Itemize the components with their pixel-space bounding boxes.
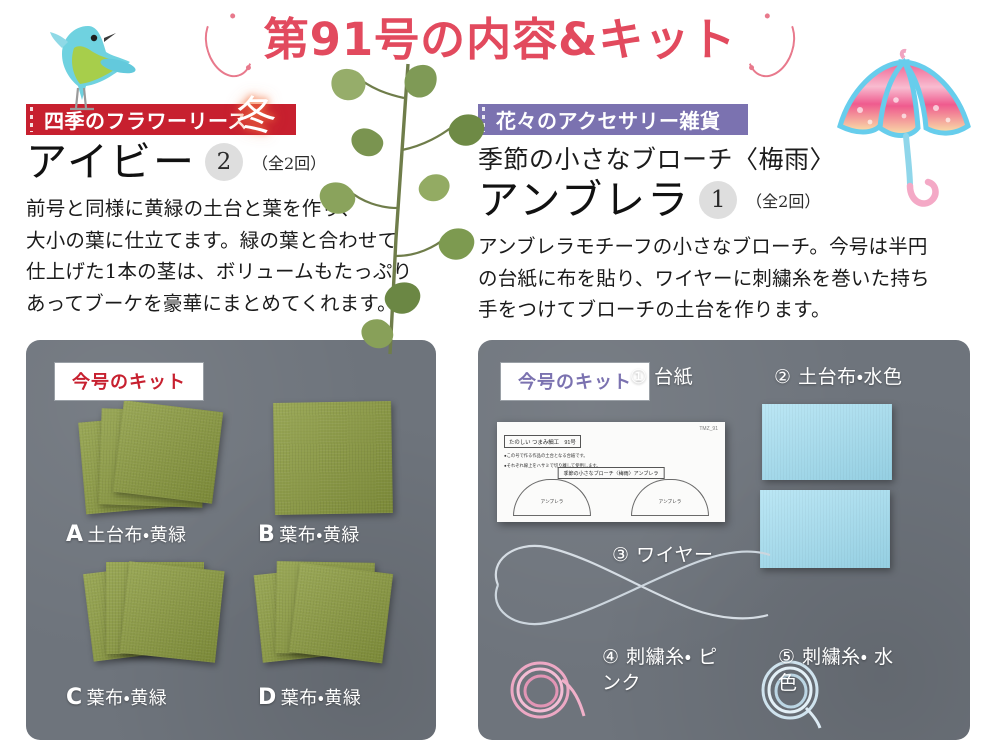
banner-right-label: 花々のアクセサリー雑貨 bbox=[496, 105, 721, 134]
kit-label-5: ⑤ 刺繍糸・ 水色 bbox=[778, 645, 908, 696]
left-kit-panel: 今号のキット A土台布・黄緑 B葉布・黄緑 C葉布・黄緑 D葉布・黄緑 bbox=[26, 340, 436, 740]
fabric-swatch-b bbox=[273, 401, 393, 515]
kit-text-a: 土台布・黄緑 bbox=[88, 525, 187, 546]
magazine-page: 第91号の内容&キット bbox=[0, 0, 1000, 756]
fabric-swatch-blue-bottom bbox=[760, 490, 890, 568]
page-title: 第91号の内容&キット bbox=[264, 8, 737, 72]
umbrella-brooch-illustration bbox=[818, 48, 994, 234]
pattern-shape-label: アンブレラ bbox=[541, 499, 564, 505]
kit-text-5: 刺繍糸・ 水色 bbox=[778, 646, 894, 694]
season-kanji-winter: 冬 bbox=[236, 96, 276, 136]
left-issue-badge: 2 bbox=[205, 143, 243, 181]
pattern-shape-label: アンブレラ bbox=[659, 499, 682, 505]
kit-key-3: ③ bbox=[612, 544, 630, 566]
right-body-line: アンブレラモチーフの小さなブローチ。今号は半円 bbox=[478, 231, 968, 263]
left-craft-title: アイビー bbox=[26, 140, 196, 184]
right-body-line: 手をつけてブローチの土台を作ります。 bbox=[478, 294, 968, 326]
pattern-sheet-title: たのしい つまみ細工 91号 bbox=[504, 435, 581, 448]
kit-text-1: 台紙 bbox=[654, 366, 693, 388]
kit-text-3: ワイヤー bbox=[636, 544, 713, 566]
kit-label-4: ④ 刺繍糸・ ピンク bbox=[602, 645, 722, 696]
kit-key-1: ① bbox=[630, 366, 648, 388]
right-kit-tag-label: 今号のキット bbox=[518, 372, 632, 393]
kit-key-2: ② bbox=[774, 366, 792, 388]
right-kit-panel: 今号のキット ① 台紙 ② 土台布・水色 TMZ_91 たのしい つまみ細工 9… bbox=[478, 340, 970, 740]
pattern-sheet-subtitle: 季節の小さなブローチ〈梅雨〉アンブレラ bbox=[558, 467, 665, 479]
page-title-block: 第91号の内容&キット bbox=[0, 8, 1000, 72]
pink-thread-illustration bbox=[500, 650, 590, 730]
kit-key-a: A bbox=[66, 522, 84, 547]
kit-label-b: B葉布・黄緑 bbox=[258, 521, 360, 547]
title-brace-right-icon bbox=[739, 7, 803, 84]
kit-label-d: D葉布・黄緑 bbox=[258, 684, 361, 710]
kit-label-1: ① 台紙 bbox=[630, 362, 693, 389]
left-kit-tag-label: 今号のキット bbox=[72, 372, 186, 393]
kit-label-a: A土台布・黄緑 bbox=[66, 521, 187, 547]
kit-text-2: 土台布・水色 bbox=[798, 366, 902, 388]
kit-text-d: 葉布・黄緑 bbox=[281, 688, 362, 709]
kit-text-b: 葉布・黄緑 bbox=[279, 525, 360, 546]
kit-label-2: ② 土台布・水色 bbox=[774, 362, 903, 389]
fabric-swatch-blue-top bbox=[762, 404, 892, 480]
right-body-text: アンブレラモチーフの小さなブローチ。今号は半円 の台紙に布を貼り、ワイヤーに刺繍… bbox=[478, 231, 968, 326]
kit-key-b: B bbox=[258, 522, 275, 547]
fabric-swatch-a bbox=[113, 400, 223, 504]
right-issue-badge: 1 bbox=[699, 181, 737, 219]
kit-text-4: 刺繍糸・ ピンク bbox=[602, 646, 718, 694]
kit-key-5: ⑤ bbox=[778, 646, 796, 668]
banner-flower-accessories: 花々のアクセサリー雑貨 bbox=[478, 104, 748, 135]
fabric-swatch-c bbox=[119, 561, 224, 663]
fabric-swatch-d bbox=[289, 563, 393, 664]
kit-text-c: 葉布・黄緑 bbox=[87, 688, 168, 709]
right-kit-tag: 今号のキット bbox=[500, 362, 650, 401]
kit-key-c: C bbox=[66, 685, 83, 710]
kit-key-4: ④ bbox=[602, 646, 620, 668]
kit-label-3: ③ ワイヤー bbox=[612, 540, 714, 567]
pattern-sheet-shapes: アンブレラ アンブレラ bbox=[497, 479, 725, 517]
right-body-line: の台紙に布を貼り、ワイヤーに刺繍糸を巻いた持ち bbox=[478, 263, 968, 295]
kit-key-d: D bbox=[258, 685, 277, 710]
left-kit-tag: 今号のキット bbox=[54, 362, 204, 401]
pattern-sheet-note: ●この号で作る作品の土台となる台紙です。 bbox=[504, 452, 718, 460]
pattern-sheet-card: TMZ_91 たのしい つまみ細工 91号 ●この号で作る作品の土台となる台紙で… bbox=[497, 422, 725, 522]
pattern-shape-umbrella: アンブレラ bbox=[631, 479, 709, 516]
pattern-sheet-code: TMZ_91 bbox=[699, 426, 718, 432]
kit-label-c: C葉布・黄緑 bbox=[66, 684, 167, 710]
ivy-branch-illustration bbox=[300, 58, 510, 358]
title-brace-left-icon bbox=[196, 7, 260, 84]
pattern-shape-umbrella: アンブレラ bbox=[513, 479, 591, 516]
right-total-note: （全2回） bbox=[746, 188, 820, 212]
